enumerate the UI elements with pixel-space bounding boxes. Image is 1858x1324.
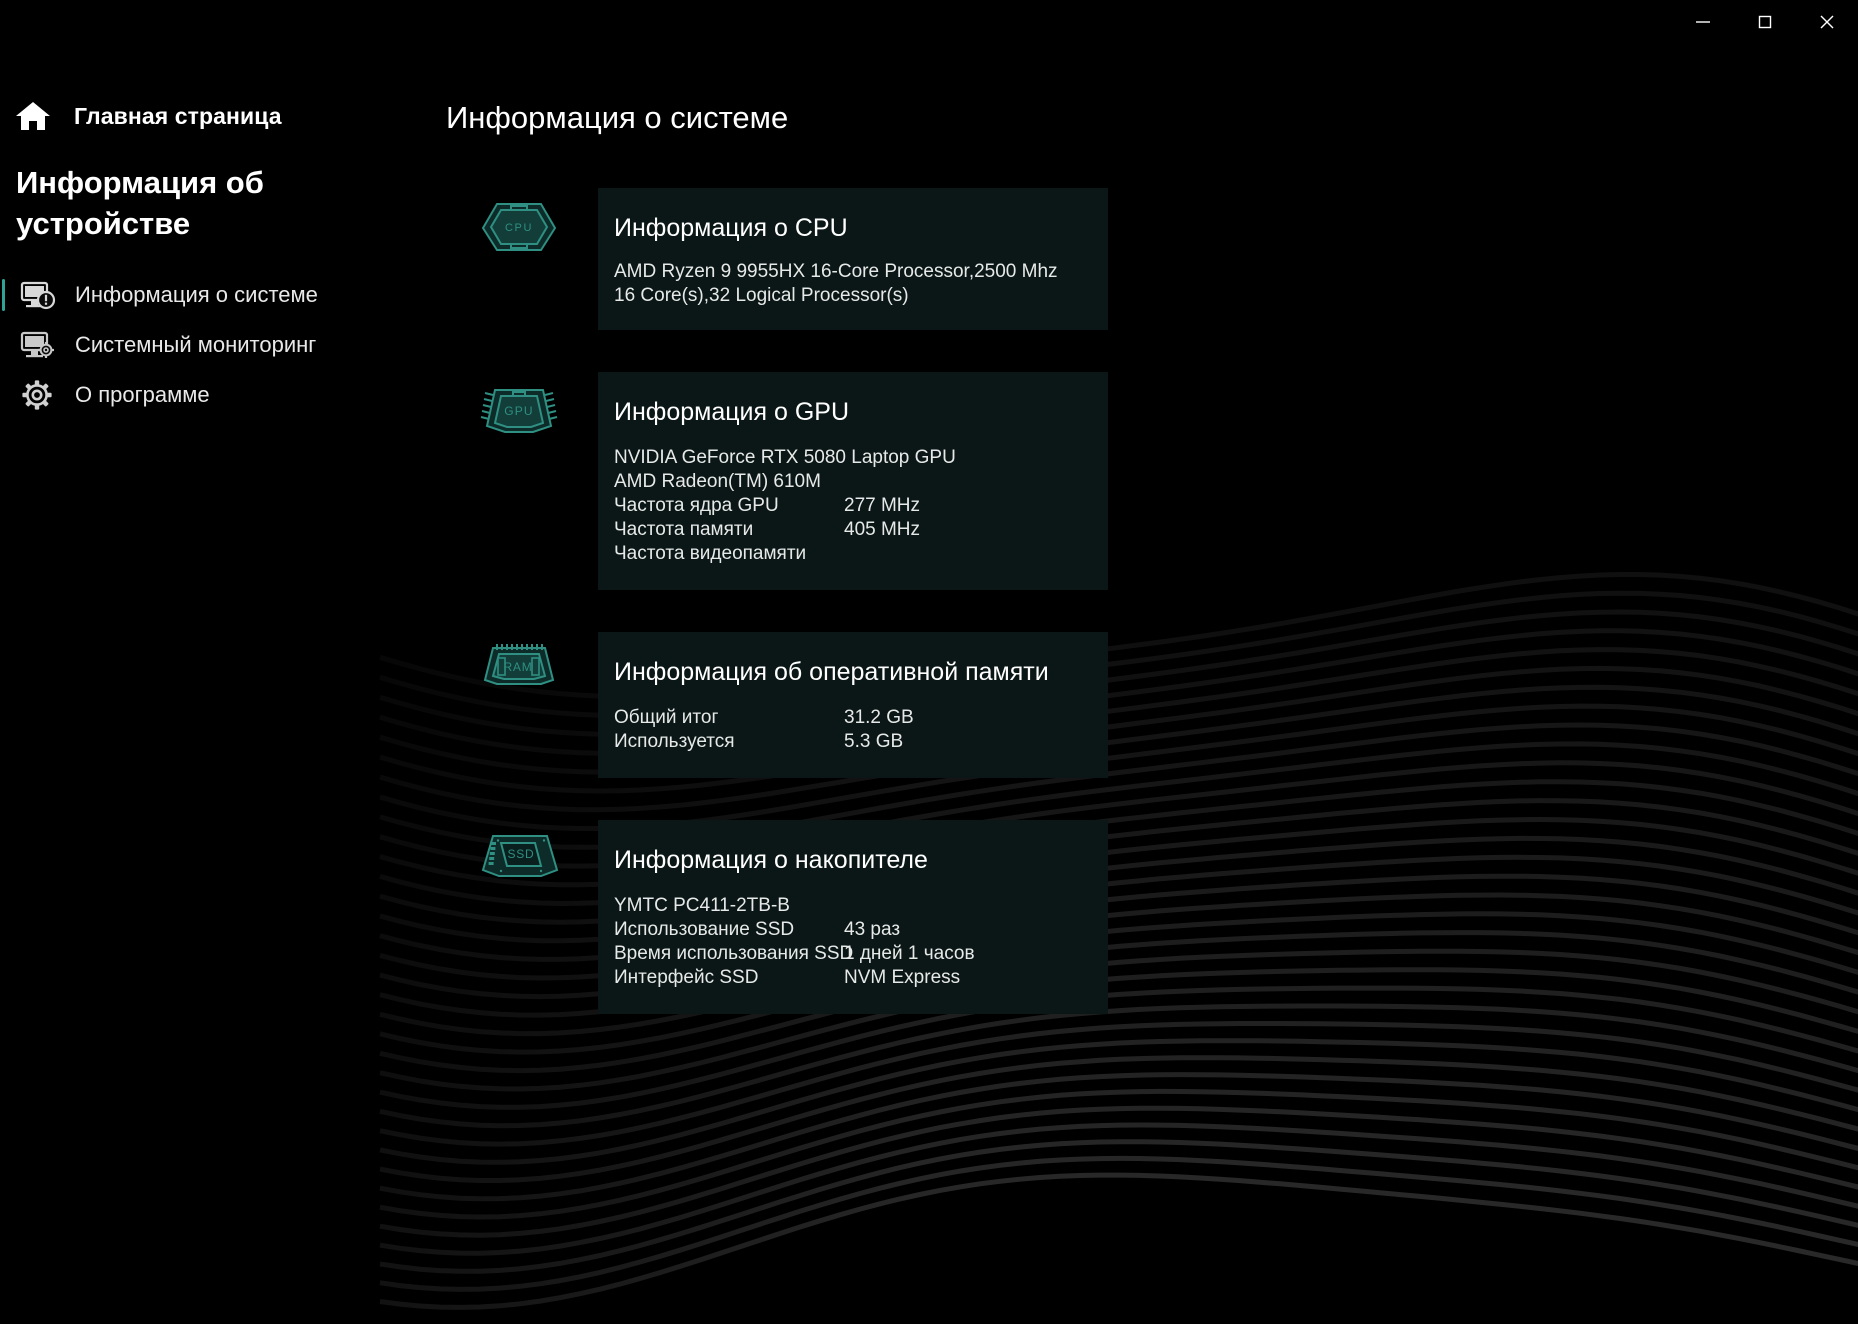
home-nav-label: Главная страница	[74, 103, 282, 130]
gpu-core-clock-value: 277 MHz	[844, 494, 1094, 518]
ssd-usage-time-value: 1 дней 1 часов	[844, 942, 1094, 966]
cpu-chip-icon: CPU	[471, 194, 567, 256]
ram-total-label: Общий итог	[614, 706, 844, 730]
ram-used-label: Используется	[614, 730, 844, 754]
ssd-drive-icon: SSD	[471, 826, 567, 882]
maximize-icon	[1754, 11, 1776, 33]
gpu-memory-clock-label: Частота памяти	[614, 518, 844, 542]
ssd-usage-count-value: 43 раз	[844, 918, 1094, 942]
cpu-card-lines: AMD Ryzen 9 9955HX 16-Core Processor,250…	[614, 260, 1108, 308]
ssd-model: YMTC PC411-2TB-B	[614, 894, 790, 918]
gpu-memory-clock-value: 405 MHz	[844, 518, 1094, 542]
storage-info-card: Информация о накопителе YMTC PC411-2TB-B…	[598, 820, 1108, 1014]
sidebar-item-system-monitoring[interactable]: Системный мониторинг	[0, 320, 440, 370]
cpu-icon-cell: CPU	[440, 188, 598, 256]
minimize-button[interactable]	[1672, 0, 1734, 44]
svg-text:GPU: GPU	[504, 404, 534, 418]
ssd-icon-cell: SSD	[440, 820, 598, 882]
gpu-model-primary: NVIDIA GeForce RTX 5080 Laptop GPU	[614, 446, 956, 470]
cpu-line: 16 Core(s),32 Logical Processor(s)	[614, 284, 1108, 308]
storage-line: Интерфейс SSD NVM Express	[614, 966, 1108, 990]
home-icon	[14, 99, 52, 133]
gpu-info-card: Информация о GPU NVIDIA GeForce RTX 5080…	[598, 372, 1108, 590]
gpu-line: AMD Radeon(TM) 610M	[614, 470, 1108, 494]
ram-card-lines: Общий итог 31.2 GB Используется 5.3 GB	[614, 706, 1108, 754]
storage-card-title: Информация о накопителе	[614, 844, 1108, 876]
storage-line: Время использования SSD 1 дней 1 часов	[614, 942, 1108, 966]
gpu-card-lines: NVIDIA GeForce RTX 5080 Laptop GPU AMD R…	[614, 446, 1108, 566]
sidebar-item-about[interactable]: О программе	[0, 370, 440, 420]
ram-stick-icon: RAM	[471, 638, 567, 690]
cpu-model: AMD Ryzen 9 9955HX 16-Core Processor,250…	[614, 260, 1058, 284]
sidebar-item-label: Информация о системе	[75, 282, 318, 308]
gpu-line: Частота памяти 405 MHz	[614, 518, 1108, 542]
active-indicator	[2, 279, 5, 311]
storage-line: YMTC PC411-2TB-B	[614, 894, 1108, 918]
window-titlebar	[0, 0, 1858, 50]
gpu-line: Частота ядра GPU 277 MHz	[614, 494, 1108, 518]
monitor-gear-icon	[20, 329, 56, 361]
sidebar-item-label: О программе	[75, 382, 210, 408]
sidebar-nav-list: Информация о системе	[0, 270, 440, 420]
card-row-ram: RAM Информация об оперативной памяти Общ…	[440, 632, 1858, 778]
sidebar-item-system-info[interactable]: Информация о системе	[0, 270, 440, 320]
main-content: Информация о системе CPU	[440, 0, 1858, 1324]
monitor-info-icon	[20, 279, 56, 311]
ram-info-card: Информация об оперативной памяти Общий и…	[598, 632, 1108, 778]
gpu-model-secondary: AMD Radeon(TM) 610M	[614, 470, 821, 494]
gpu-vram-clock-value	[844, 542, 1094, 566]
card-row-gpu: GPU Информация о GPU NVIDIA GeForce RTX …	[440, 372, 1858, 590]
storage-card-lines: YMTC PC411-2TB-B Использование SSD 43 ра…	[614, 894, 1108, 990]
gpu-vram-clock-label: Частота видеопамяти	[614, 542, 844, 566]
app-window: Главная страница Информация об устройств…	[0, 0, 1858, 1324]
maximize-button[interactable]	[1734, 0, 1796, 44]
gpu-card-title: Информация о GPU	[614, 396, 1108, 428]
cpu-info-card: Информация о CPU AMD Ryzen 9 9955HX 16-C…	[598, 188, 1108, 330]
gpu-icon-cell: GPU	[440, 372, 598, 440]
gpu-chip-icon: GPU	[471, 378, 567, 440]
storage-line: Использование SSD 43 раз	[614, 918, 1108, 942]
ram-used-value: 5.3 GB	[844, 730, 1094, 754]
ram-line: Используется 5.3 GB	[614, 730, 1108, 754]
minimize-icon	[1692, 11, 1714, 33]
sidebar: Главная страница Информация об устройств…	[0, 0, 440, 1324]
info-card-list: CPU Информация о CPU AMD Ryzen 9 9955HX …	[440, 188, 1858, 1014]
close-icon	[1816, 11, 1838, 33]
ram-icon-cell: RAM	[440, 632, 598, 690]
home-nav-button[interactable]: Главная страница	[0, 92, 440, 140]
gpu-line: NVIDIA GeForce RTX 5080 Laptop GPU	[614, 446, 1108, 470]
card-row-storage: SSD Информация о накопителе YMTC PC411-2…	[440, 820, 1858, 1014]
svg-text:CPU: CPU	[505, 222, 533, 234]
ram-card-title: Информация об оперативной памяти	[614, 656, 1108, 688]
gpu-line: Частота видеопамяти	[614, 542, 1108, 566]
ssd-usage-time-label: Время использования SSD	[614, 942, 844, 966]
sidebar-title: Информация об устройстве	[0, 162, 300, 244]
ram-line: Общий итог 31.2 GB	[614, 706, 1108, 730]
cpu-line: AMD Ryzen 9 9955HX 16-Core Processor,250…	[614, 260, 1108, 284]
ram-total-value: 31.2 GB	[844, 706, 1094, 730]
gear-icon	[20, 379, 56, 411]
gpu-core-clock-label: Частота ядра GPU	[614, 494, 844, 518]
cpu-card-title: Информация о CPU	[614, 212, 1108, 244]
sidebar-item-label: Системный мониторинг	[75, 332, 316, 358]
card-row-cpu: CPU Информация о CPU AMD Ryzen 9 9955HX …	[440, 188, 1858, 330]
ssd-interface-value: NVM Express	[844, 966, 1094, 990]
ssd-usage-count-label: Использование SSD	[614, 918, 844, 942]
cpu-cores: 16 Core(s),32 Logical Processor(s)	[614, 284, 909, 308]
svg-text:RAM: RAM	[503, 660, 532, 674]
ssd-interface-label: Интерфейс SSD	[614, 966, 844, 990]
svg-text:SSD: SSD	[507, 847, 534, 861]
close-button[interactable]	[1796, 0, 1858, 44]
